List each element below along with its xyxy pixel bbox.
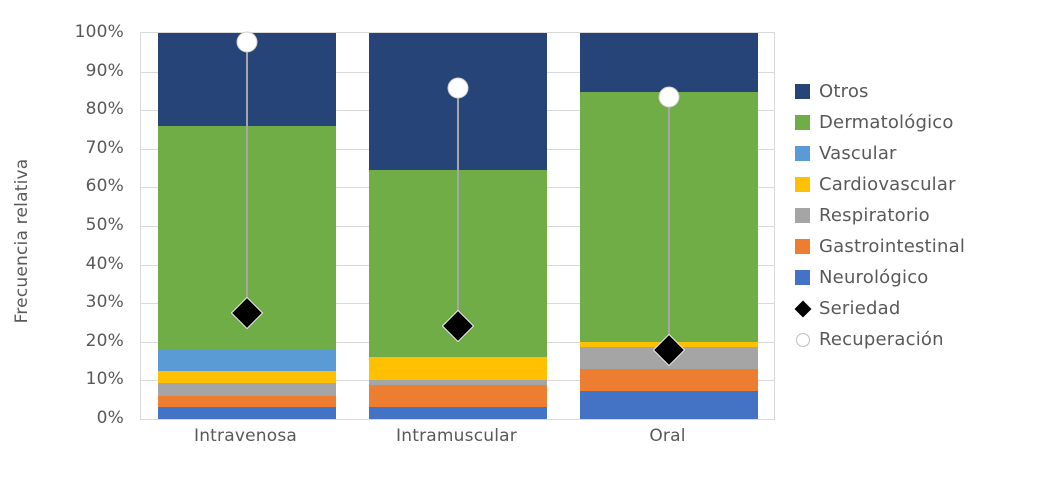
legend-color-swatch [795, 177, 810, 192]
y-axis-tick-40pct: 40% [86, 254, 124, 274]
x-axis-tick-labels: IntravenosaIntramuscularOral [140, 426, 773, 456]
legend-label: Neurológico [819, 267, 929, 288]
legend-item-gastrointestinal[interactable]: Gastrointestinal [795, 231, 1045, 262]
marker-connector-line [457, 88, 459, 326]
legend-label: Gastrointestinal [819, 236, 965, 257]
legend-label: Dermatológico [819, 112, 954, 133]
y-axis-title: Frecuencia relativa [0, 0, 44, 482]
plot-area [140, 32, 775, 420]
chart-container: Frecuencia relativa 0%10%20%30%40%50%60%… [0, 0, 1049, 482]
legend-marker-shape [796, 333, 810, 347]
legend-color-swatch [795, 115, 810, 130]
y-axis-tick-20pct: 20% [86, 331, 124, 351]
legend-item-respiratorio[interactable]: Respiratorio [795, 200, 1045, 231]
y-axis-tick-labels: 0%10%20%30%40%50%60%70%80%90%100% [56, 32, 132, 418]
bar-segment-neurolgico[interactable] [580, 391, 758, 419]
legend-color-swatch [795, 208, 810, 223]
legend-label: Vascular [819, 143, 897, 164]
legend-item-seriedad[interactable]: Seriedad [795, 293, 1045, 324]
bar-segment-cardiovascular[interactable] [369, 357, 547, 380]
bar-segment-otros[interactable] [580, 33, 758, 92]
bar-segment-gastrointestinal[interactable] [369, 385, 547, 407]
y-axis-tick-90pct: 90% [86, 61, 124, 81]
bar-segment-gastrointestinal[interactable] [580, 369, 758, 391]
bar-segment-neurolgico[interactable] [158, 407, 336, 419]
recuperacion-marker-intramuscular[interactable] [447, 77, 468, 98]
x-axis-label-intravenosa: Intravenosa [194, 426, 297, 446]
legend-color-swatch [795, 239, 810, 254]
y-axis-tick-0pct: 0% [97, 408, 124, 428]
chart-legend: OtrosDermatológicoVascularCardiovascular… [795, 76, 1045, 355]
marker-connector-line [246, 42, 248, 313]
bar-segment-cardiovascular[interactable] [158, 371, 336, 383]
y-axis-tick-60pct: 60% [86, 176, 124, 196]
legend-item-recuperacin[interactable]: Recuperación [795, 324, 1045, 355]
legend-label: Respiratorio [819, 205, 930, 226]
y-axis-tick-100pct: 100% [75, 22, 124, 42]
y-axis-tick-50pct: 50% [86, 215, 124, 235]
marker-connector-line [668, 97, 670, 350]
legend-item-dermatolgico[interactable]: Dermatológico [795, 107, 1045, 138]
legend-color-swatch [795, 146, 810, 161]
legend-color-swatch [795, 270, 810, 285]
y-axis-tick-70pct: 70% [86, 138, 124, 158]
legend-label: Cardiovascular [819, 174, 956, 195]
bar-segment-vascular[interactable] [158, 350, 336, 371]
legend-item-cardiovascular[interactable]: Cardiovascular [795, 169, 1045, 200]
y-axis-tick-30pct: 30% [86, 292, 124, 312]
legend-item-neurolgico[interactable]: Neurológico [795, 262, 1045, 293]
bar-segment-neurolgico[interactable] [369, 407, 547, 419]
legend-label: Otros [819, 81, 869, 102]
legend-item-vascular[interactable]: Vascular [795, 138, 1045, 169]
recuperacion-marker-intravenosa[interactable] [236, 31, 257, 52]
legend-color-swatch [795, 84, 810, 99]
legend-marker-shape [794, 300, 811, 317]
bar-segment-respiratorio[interactable] [369, 380, 547, 385]
legend-item-otros[interactable]: Otros [795, 76, 1045, 107]
x-axis-label-intramuscular: Intramuscular [396, 426, 517, 446]
y-axis-tick-80pct: 80% [86, 99, 124, 119]
legend-label: Seriedad [819, 298, 900, 319]
y-axis-tick-10pct: 10% [86, 369, 124, 389]
recuperacion-marker-oral[interactable] [658, 87, 679, 108]
legend-label: Recuperación [819, 329, 944, 350]
bar-segment-respiratorio[interactable] [158, 383, 336, 396]
diamond-icon [795, 301, 810, 316]
bars-layer [141, 33, 774, 419]
circle-icon [795, 332, 810, 347]
x-axis-label-oral: Oral [649, 426, 685, 446]
bar-segment-gastrointestinal[interactable] [158, 396, 336, 407]
